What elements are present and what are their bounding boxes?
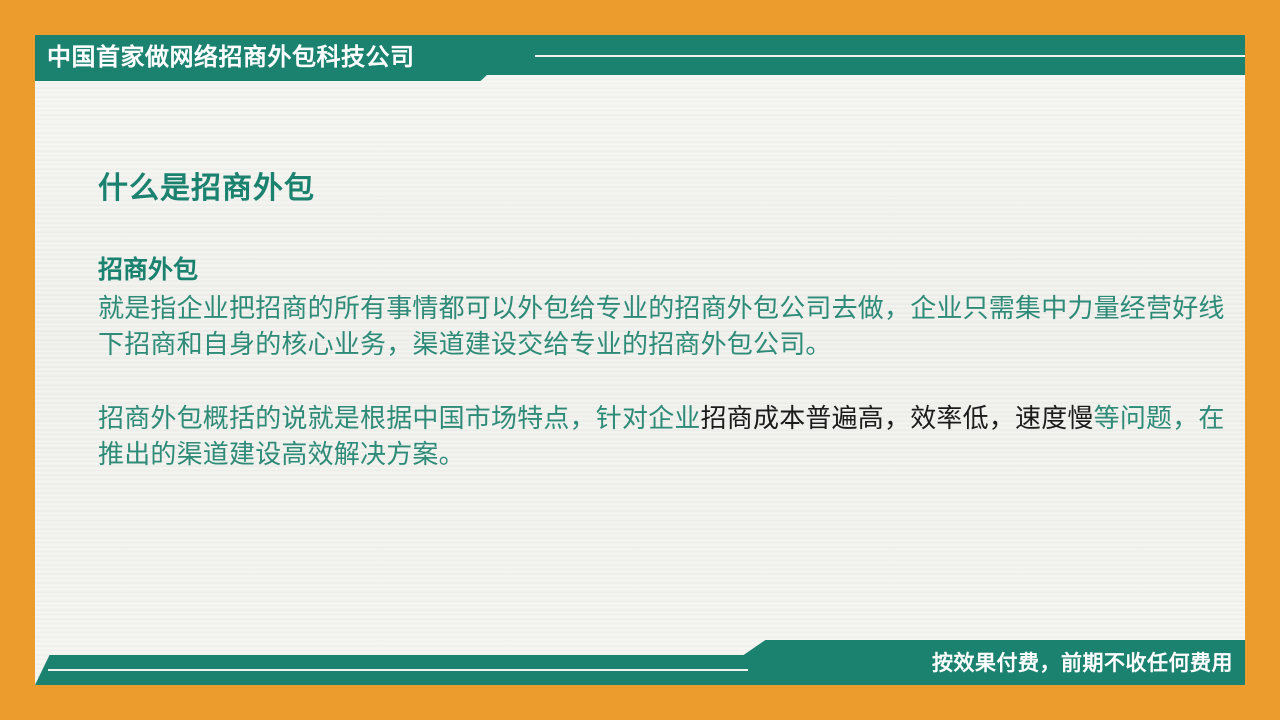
summary-paragraph: 招商外包概括的说就是根据中国市场特点，针对企业招商成本普遍高，效率低，速度慢等问…	[98, 400, 1228, 472]
definition-paragraph: 就是指企业把招商的所有事情都可以外包给专业的招商外包公司去做，企业只需集中力量经…	[98, 290, 1228, 362]
definition-term: 招商外包	[98, 254, 1228, 286]
slide-body: 什么是招商外包 招商外包 就是指企业把招商的所有事情都可以外包给专业的招商外包公…	[98, 170, 1228, 472]
page-title: 什么是招商外包	[98, 170, 1228, 208]
summary-text-highlight: 招商成本普遍高，效率低，速度慢	[701, 403, 1094, 433]
slide-canvas: 中国首家做网络招商外包科技公司 什么是招商外包 招商外包 就是指企业把招商的所有…	[0, 0, 1280, 720]
summary-text-lead: 招商外包概括的说就是根据中国市场特点，针对企业	[98, 403, 701, 433]
